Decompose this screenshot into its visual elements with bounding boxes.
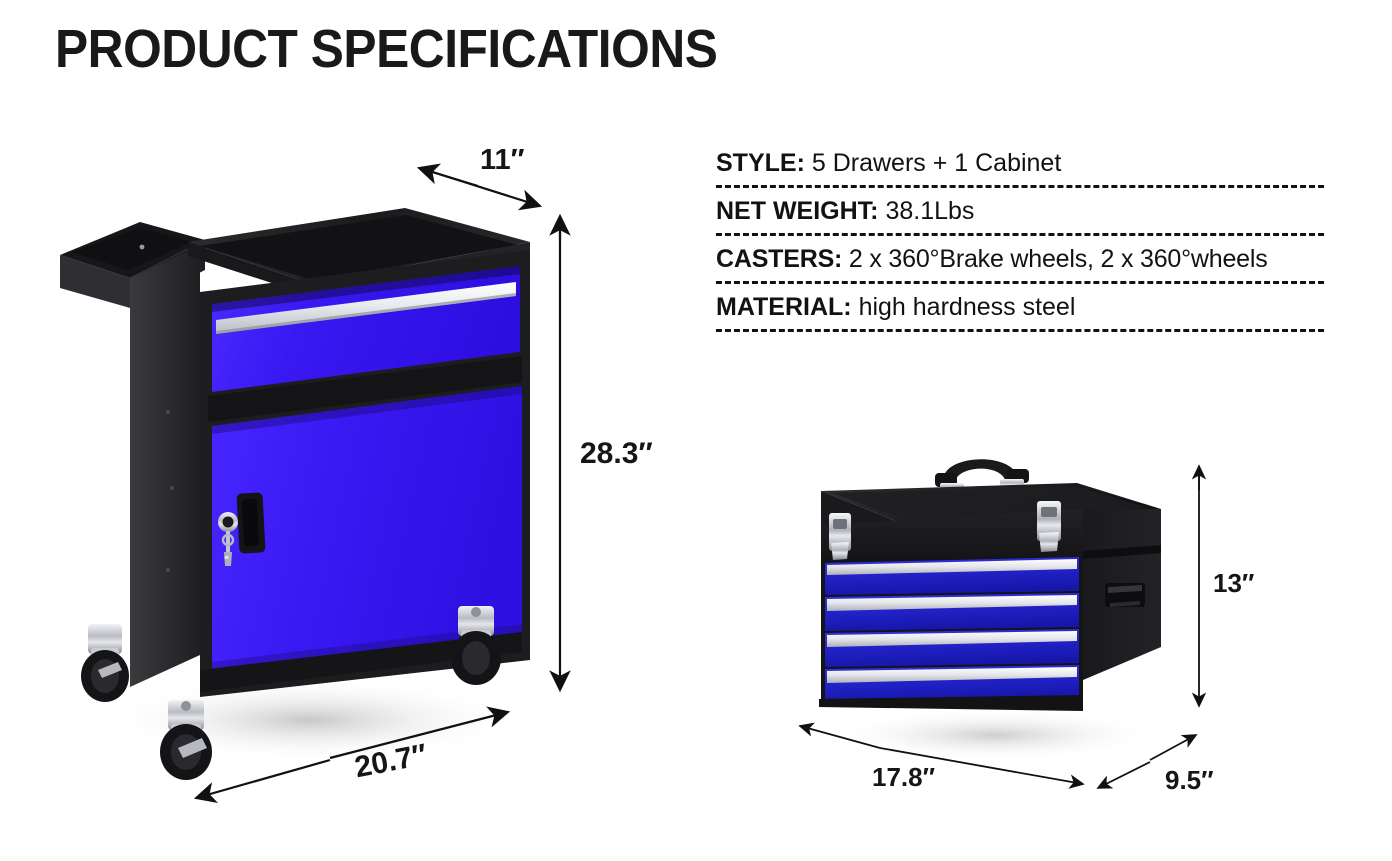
page-title: PRODUCT SPECIFICATIONS [55, 18, 717, 80]
dimension-label-box-depth: 9.5″ [1165, 765, 1214, 796]
dimension-label-cart-height: 28.3″ [580, 437, 653, 471]
spec-row-material: MATERIAL: high hardness steel [716, 290, 1324, 332]
dimension-label-box-height: 13″ [1213, 568, 1254, 599]
cart-door-handle[interactable] [236, 492, 265, 553]
cart-left-panel [130, 246, 200, 687]
spec-value-net-weight: 38.1Lbs [879, 197, 975, 225]
box-latch-right[interactable] [1037, 501, 1061, 552]
spec-label-casters: CASTERS: [716, 245, 842, 273]
spec-label-material: MATERIAL: [716, 293, 852, 321]
spec-divider [716, 185, 1324, 188]
spec-divider [716, 329, 1324, 332]
spec-row-style: STYLE: 5 Drawers + 1 Cabinet [716, 146, 1324, 188]
spec-row-casters: CASTERS: 2 x 360°Brake wheels, 2 x 360°w… [716, 242, 1324, 284]
tool-box-image [815, 435, 1205, 765]
cart-caster-rear-left [81, 624, 129, 702]
dimension-label-box-width: 17.8″ [872, 762, 935, 793]
spec-label-net-weight: NET WEIGHT: [716, 197, 879, 225]
box-drawer-1[interactable] [825, 557, 1079, 595]
spec-divider [716, 281, 1324, 284]
box-side-handle[interactable] [1105, 583, 1145, 607]
box-latch-left[interactable] [829, 513, 851, 560]
spec-row-net-weight: NET WEIGHT: 38.1Lbs [716, 194, 1324, 236]
spec-value-style: 5 Drawers + 1 Cabinet [805, 149, 1061, 177]
spec-value-material: high hardness steel [852, 293, 1076, 321]
product-specifications-page: PRODUCT SPECIFICATIONS STYLE: 5 Drawers … [0, 0, 1392, 861]
box-floor-shadow [830, 709, 1160, 761]
box-drawer-2[interactable] [825, 593, 1079, 631]
dimension-label-cart-depth: 11″ [480, 144, 525, 177]
spec-divider [716, 233, 1324, 236]
tool-cart-image [60, 200, 540, 800]
dim-line-box-depth-left [1098, 762, 1150, 788]
specifications-table: STYLE: 5 Drawers + 1 Cabinet NET WEIGHT:… [716, 146, 1324, 338]
spec-value-casters: 2 x 360°Brake wheels, 2 x 360°wheels [842, 245, 1267, 273]
cart-caster-front-right [451, 606, 501, 685]
spec-label-style: STYLE: [716, 149, 805, 177]
dim-line-cart-depth [419, 168, 478, 186]
box-drawer-3[interactable] [825, 629, 1079, 667]
